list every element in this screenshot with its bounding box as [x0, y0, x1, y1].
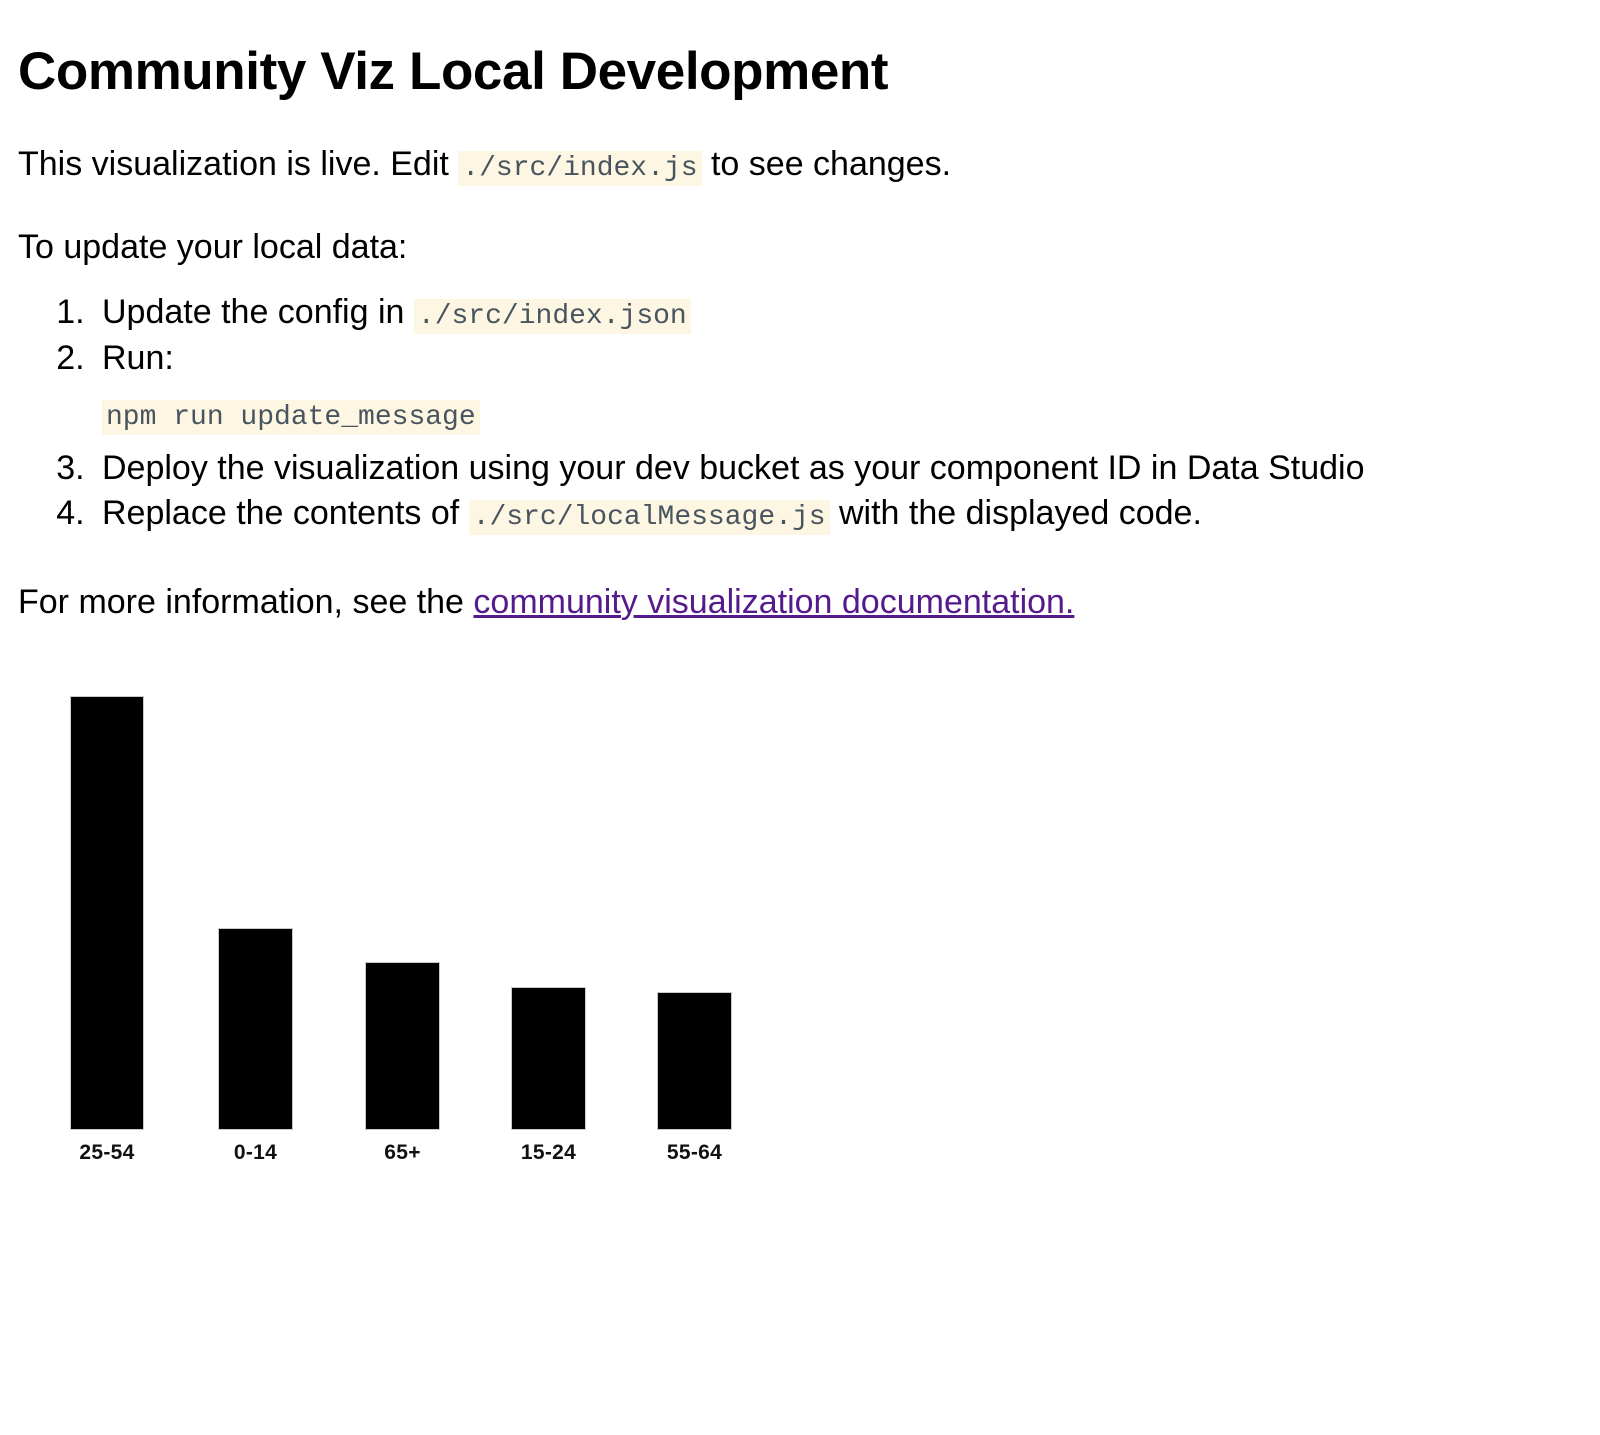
- step-4-text-before: Replace the contents of: [102, 494, 469, 532]
- chart-canvas: 25-540-1465+15-2455-64: [53, 679, 793, 1179]
- x-axis-label-25-54: 25-54: [71, 1141, 143, 1165]
- page-title: Community Viz Local Development: [18, 42, 1582, 103]
- page-root: Community Viz Local Development This vis…: [0, 0, 1600, 1179]
- bar-65+: [366, 963, 439, 1129]
- block-code-npm-run-update-message: npm run update_message: [102, 400, 480, 435]
- x-axis-label-65+: 65+: [366, 1141, 439, 1165]
- inline-code-local-message-js: ./src/localMessage.js: [469, 500, 830, 535]
- x-axis-label-15-24: 15-24: [512, 1141, 585, 1165]
- bar-0-14: [219, 929, 292, 1129]
- step-4-text-after: with the displayed code.: [830, 494, 1202, 532]
- community-visualization-documentation-link[interactable]: community visualization documentation.: [473, 583, 1074, 621]
- inline-code-index-json: ./src/index.json: [414, 299, 691, 334]
- list-item: Deploy the visualization using your dev …: [94, 446, 1582, 491]
- code-block-wrapper: npm run update_message: [102, 391, 1582, 436]
- step-1-text-before: Update the config in: [102, 293, 414, 331]
- list-item: Replace the contents of ./src/localMessa…: [94, 491, 1582, 536]
- x-axis-label-55-64: 55-64: [658, 1141, 731, 1165]
- chart-plot-area: 25-540-1465+15-2455-64: [53, 679, 793, 1129]
- x-axis-label-0-14: 0-14: [219, 1141, 292, 1165]
- footer-text-before: For more information, see the: [18, 583, 473, 621]
- footer-paragraph: For more information, see the community …: [18, 581, 1582, 624]
- step-2-text-before: Run:: [102, 339, 174, 377]
- intro-text-before: This visualization is live. Edit: [18, 145, 458, 183]
- intro-paragraph: This visualization is live. Edit ./src/i…: [18, 143, 1582, 186]
- inline-code-index-js: ./src/index.js: [458, 151, 701, 186]
- bar-55-64: [658, 993, 731, 1129]
- list-item: Run: npm run update_message: [94, 336, 1582, 436]
- steps-list: Update the config in ./src/index.json Ru…: [18, 290, 1582, 536]
- instructions-lead: To update your local data:: [18, 226, 1582, 269]
- list-item: Update the config in ./src/index.json: [94, 290, 1582, 335]
- bar-15-24: [512, 988, 585, 1129]
- step-3-text: Deploy the visualization using your dev …: [102, 449, 1364, 487]
- bar-chart: 25-540-1465+15-2455-64: [18, 679, 1582, 1179]
- bar-25-54: [71, 697, 143, 1129]
- intro-text-after: to see changes.: [702, 145, 952, 183]
